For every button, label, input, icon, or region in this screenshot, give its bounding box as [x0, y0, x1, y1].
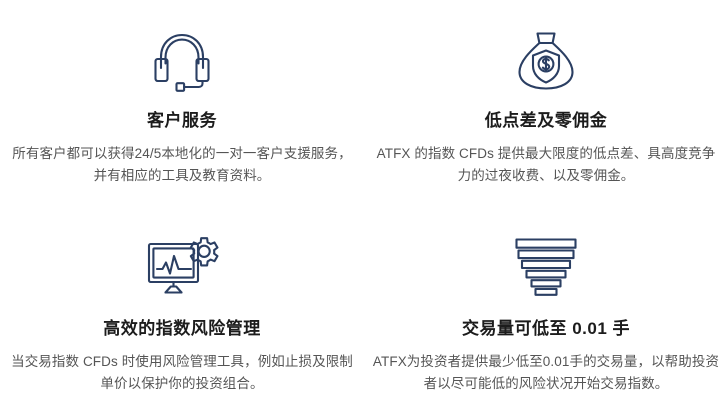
- feature-title: 高效的指数风险管理: [103, 318, 261, 340]
- funnel-bars-icon: [513, 232, 579, 302]
- feature-title: 客户服务: [147, 110, 217, 132]
- feature-description: ATFX 的指数 CFDs 提供最大限度的低点差、具高度竞争力的过夜收费、以及零…: [372, 143, 720, 188]
- money-bag-shield-dollar-icon: [513, 26, 579, 96]
- feature-card-customer-service: 客户服务 所有客户都可以获得24/5本地化的一对一客户支援服务，并有相应的工具及…: [0, 0, 364, 206]
- feature-card-minimum-lot: 交易量可低至 0.01 手 ATFX为投资者提供最少低至0.01手的交易量，以帮…: [364, 206, 728, 413]
- feature-description: ATFX为投资者提供最少低至0.01手的交易量，以帮助投资者以尽可能低的风险状况…: [372, 351, 720, 396]
- feature-card-low-spread: 低点差及零佣金 ATFX 的指数 CFDs 提供最大限度的低点差、具高度竞争力的…: [364, 0, 728, 206]
- feature-card-risk-management: 高效的指数风险管理 当交易指数 CFDs 时使用风险管理工具，例如止损及限制单价…: [0, 206, 364, 413]
- features-grid: 客户服务 所有客户都可以获得24/5本地化的一对一客户支援服务，并有相应的工具及…: [0, 0, 728, 413]
- headset-icon: [149, 26, 215, 96]
- feature-description: 当交易指数 CFDs 时使用风险管理工具，例如止损及限制单价以保护你的投资组合。: [8, 351, 356, 396]
- monitor-chart-gear-icon: [145, 232, 219, 302]
- feature-description: 所有客户都可以获得24/5本地化的一对一客户支援服务，并有相应的工具及教育资料。: [8, 143, 356, 188]
- feature-title: 低点差及零佣金: [485, 110, 608, 132]
- feature-title: 交易量可低至 0.01 手: [462, 318, 630, 340]
